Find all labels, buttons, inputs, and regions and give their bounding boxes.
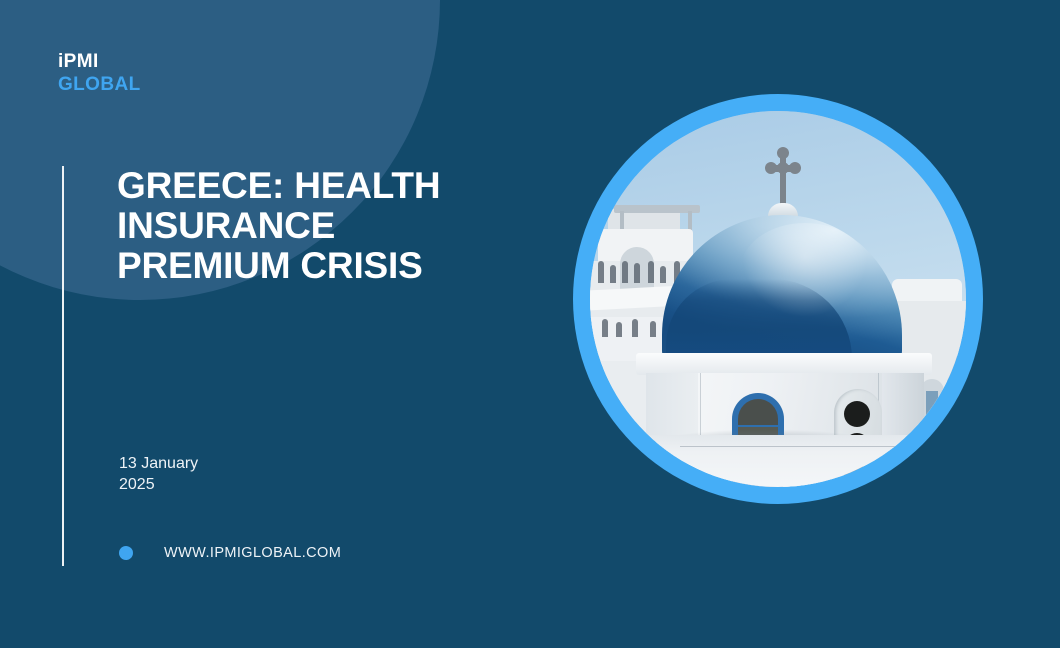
- foreground-rooftop: [590, 435, 966, 487]
- logo-line-ipmi: iPMI: [58, 50, 141, 73]
- hero-photo: [590, 111, 966, 487]
- website-link[interactable]: WWW.IPMIGLOBAL.COM: [119, 545, 341, 561]
- dot-icon: [119, 546, 133, 560]
- foreground-seam-line: [680, 446, 966, 447]
- orthodox-cross-icon: [762, 145, 804, 207]
- date-year: 2025: [119, 474, 198, 495]
- dome-highlight: [740, 223, 870, 319]
- date-day-month: 13 January: [119, 453, 198, 474]
- vertical-divider: [62, 166, 64, 566]
- publication-date: 13 January 2025: [119, 453, 198, 495]
- drum-cornice: [636, 353, 932, 375]
- brand-logo[interactable]: iPMI GLOBAL: [58, 50, 141, 96]
- logo-line-global: GLOBAL: [58, 73, 141, 96]
- photo-ring-border: [573, 94, 983, 504]
- page-title: GREECE: HEALTH INSURANCE PREMIUM CRISIS: [117, 166, 517, 286]
- presentation-slide: iPMI GLOBAL GREECE: HEALTH INSURANCE PRE…: [0, 0, 1060, 648]
- church-scene-illustration: [590, 111, 966, 487]
- website-url-text: WWW.IPMIGLOBAL.COM: [164, 545, 341, 561]
- circular-vent-top: [844, 401, 870, 427]
